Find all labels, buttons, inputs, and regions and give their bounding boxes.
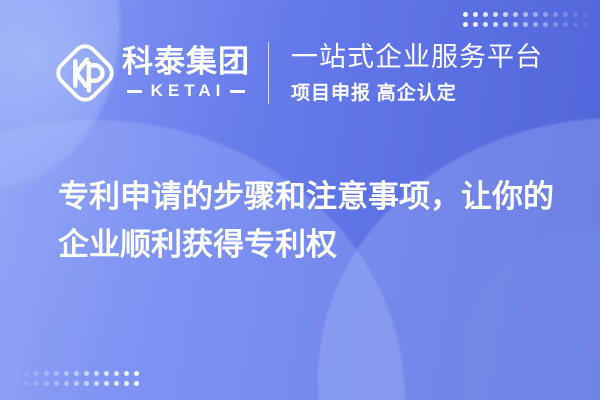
- dot-row: [463, 12, 588, 17]
- dot: [523, 22, 528, 27]
- dot: [563, 22, 568, 27]
- dot: [14, 381, 19, 386]
- dot: [114, 381, 119, 386]
- dot: [533, 12, 538, 17]
- slogan-primary: 一站式企业服务平台: [291, 42, 543, 74]
- dot: [483, 12, 488, 17]
- dot: [94, 381, 99, 386]
- brand-name-en-row: KETAI: [127, 81, 246, 101]
- brand-name-en: KETAI: [147, 81, 226, 101]
- dot: [493, 22, 498, 27]
- dot: [54, 381, 59, 386]
- dot: [74, 371, 79, 376]
- brand-slogan: 一站式企业服务平台 项目申报 高企认定: [291, 42, 543, 105]
- dot: [553, 12, 558, 17]
- dot: [573, 22, 578, 27]
- dot: [14, 371, 19, 376]
- dash-left-icon: [127, 90, 142, 93]
- dot: [44, 371, 49, 376]
- dot: [523, 12, 528, 17]
- brand-wordmark: 科泰集团 KETAI: [122, 46, 250, 102]
- dot: [543, 22, 548, 27]
- dot: [24, 371, 29, 376]
- dot-row: [14, 371, 139, 376]
- dot: [493, 12, 498, 17]
- promo-banner: 科泰集团 KETAI 一站式企业服务平台 项目申报 高企认定 专利申请的步骤和注…: [0, 0, 600, 400]
- dot: [84, 381, 89, 386]
- brand-name-cn: 科泰集团: [122, 46, 250, 79]
- dot: [84, 371, 89, 376]
- dot: [134, 371, 139, 376]
- dot: [463, 12, 468, 17]
- dot-grid-bottom-left: [14, 371, 139, 386]
- dot: [513, 22, 518, 27]
- dot: [54, 371, 59, 376]
- dot: [503, 12, 508, 17]
- dot: [463, 22, 468, 27]
- dot: [583, 12, 588, 17]
- dot: [34, 371, 39, 376]
- dot-row: [14, 381, 139, 386]
- dot: [583, 22, 588, 27]
- page-title: 专利申请的步骤和注意事项，让你的企业顺利获得专利权: [58, 173, 558, 269]
- dot: [573, 12, 578, 17]
- dot: [74, 381, 79, 386]
- header-divider: [268, 42, 269, 104]
- dot-grid-top-right: [463, 12, 588, 27]
- brand-logo[interactable]: 科泰集团 KETAI: [54, 42, 250, 104]
- dot: [553, 22, 558, 27]
- dot: [94, 371, 99, 376]
- dot: [34, 381, 39, 386]
- dot: [104, 381, 109, 386]
- dot: [503, 22, 508, 27]
- ketai-kp-diamond-logo-icon: [54, 42, 116, 104]
- dash-right-icon: [230, 90, 245, 93]
- dot: [104, 371, 109, 376]
- dot: [134, 381, 139, 386]
- dot: [483, 22, 488, 27]
- dot: [543, 12, 548, 17]
- dot: [513, 12, 518, 17]
- dot: [124, 371, 129, 376]
- dot: [563, 12, 568, 17]
- slogan-secondary: 项目申报 高企认定: [291, 78, 543, 105]
- dot: [114, 371, 119, 376]
- dot: [124, 381, 129, 386]
- dot: [473, 22, 478, 27]
- dot: [533, 22, 538, 27]
- dot: [44, 381, 49, 386]
- dot: [64, 371, 69, 376]
- banner-header: 科泰集团 KETAI 一站式企业服务平台 项目申报 高企认定: [54, 42, 543, 105]
- dot: [64, 381, 69, 386]
- dot-row: [463, 22, 588, 27]
- dot: [473, 12, 478, 17]
- dot: [24, 381, 29, 386]
